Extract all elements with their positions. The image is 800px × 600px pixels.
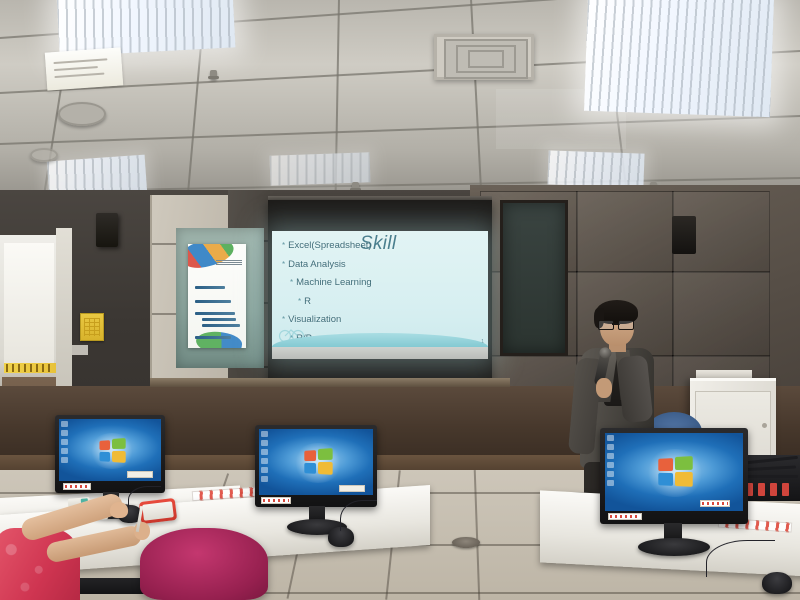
slide-bullet: * Machine Learning bbox=[290, 278, 483, 288]
attendee-hand-right bbox=[110, 502, 128, 518]
slide-bullet: * Data Analysis bbox=[282, 260, 483, 270]
monitor-label bbox=[339, 485, 365, 492]
poster-line bbox=[202, 318, 236, 321]
door-glass bbox=[4, 243, 54, 363]
desktop-icons[interactable] bbox=[61, 421, 70, 466]
poster-wall-panel bbox=[176, 228, 264, 368]
side-whiteboard bbox=[500, 200, 568, 356]
floor-power-outlet bbox=[452, 537, 480, 548]
desktop-icons[interactable] bbox=[607, 435, 616, 489]
bullet-marker-icon: * bbox=[298, 298, 301, 306]
desktop-icons[interactable] bbox=[261, 431, 270, 485]
projected-slide: Skill * Excel(Spreadsheet) * Data Analys… bbox=[272, 231, 488, 359]
ceiling-light-panel-5 bbox=[270, 152, 371, 185]
poster-line bbox=[195, 300, 231, 303]
bullet-text: Machine Learning bbox=[296, 278, 372, 288]
monitor-left[interactable] bbox=[55, 415, 165, 493]
windows-logo-icon bbox=[304, 448, 333, 476]
monitor-label bbox=[700, 500, 730, 507]
worksheet-paper[interactable] bbox=[45, 47, 123, 90]
bullet-marker-icon: * bbox=[290, 279, 293, 287]
poster-line bbox=[195, 312, 235, 315]
red-cable-tag bbox=[770, 483, 777, 496]
bullet-text: Visualization bbox=[288, 315, 341, 325]
wall-speaker-left bbox=[96, 213, 118, 247]
yellow-banner bbox=[4, 363, 56, 373]
bullet-text: Data Analysis bbox=[288, 260, 346, 270]
ceiling-light-panel-4 bbox=[547, 150, 644, 187]
monitor-asset-tag bbox=[63, 483, 91, 490]
sprinkler-icon bbox=[210, 70, 217, 79]
bullet-marker-icon: * bbox=[282, 242, 285, 250]
photo-scene: Skill * Excel(Spreadsheet) * Data Analys… bbox=[0, 0, 800, 600]
ceiling bbox=[0, 0, 800, 215]
smoke-detector-icon bbox=[58, 102, 106, 126]
monitor-asset-tag bbox=[261, 497, 291, 504]
monitor-center[interactable] bbox=[255, 425, 377, 507]
bullet-text: R bbox=[304, 297, 311, 307]
smoke-detector-icon bbox=[30, 148, 58, 162]
windows-logo-icon bbox=[99, 438, 126, 464]
red-cable-tag bbox=[782, 483, 789, 496]
ceiling-light-panel-2 bbox=[584, 0, 774, 117]
slide-bullet: * Excel(Spreadsheet) bbox=[282, 241, 483, 251]
monitor-asset-tag bbox=[608, 513, 642, 520]
hvac-diffuser bbox=[434, 34, 534, 80]
poster-line bbox=[195, 336, 231, 339]
wall-note-label bbox=[70, 345, 88, 355]
cabinet-knob-icon[interactable] bbox=[762, 423, 767, 428]
glasses-icon bbox=[598, 320, 634, 328]
slide-bullet: * R bbox=[298, 297, 483, 307]
bullet-text: Excel(Spreadsheet) bbox=[288, 241, 371, 251]
presenter-hand bbox=[596, 378, 612, 398]
slide-footer-band bbox=[272, 347, 488, 359]
monitor-label bbox=[127, 471, 153, 478]
poster-graphic-top bbox=[188, 244, 237, 273]
wall-control-keypad[interactable] bbox=[80, 313, 104, 341]
poster-line bbox=[195, 286, 225, 289]
monitor-stand-base bbox=[638, 538, 710, 556]
bullet-marker-icon: * bbox=[282, 261, 285, 269]
poster-line bbox=[202, 324, 240, 327]
bullet-marker-icon: * bbox=[282, 316, 285, 324]
ceiling-light-panel-1 bbox=[56, 0, 235, 57]
slide-page-number: 1 bbox=[481, 339, 484, 345]
wall-ledge bbox=[150, 378, 510, 387]
slide-bullet: * Visualization bbox=[282, 315, 483, 325]
red-cable-tag bbox=[758, 483, 765, 496]
monitor-right[interactable] bbox=[600, 428, 748, 524]
magenta-chair[interactable] bbox=[140, 528, 268, 600]
wall-speaker-right bbox=[672, 216, 696, 254]
mouse-cable bbox=[340, 500, 377, 531]
event-poster bbox=[188, 244, 246, 348]
poster-header-text bbox=[216, 260, 242, 265]
windows-logo-icon bbox=[658, 456, 694, 488]
